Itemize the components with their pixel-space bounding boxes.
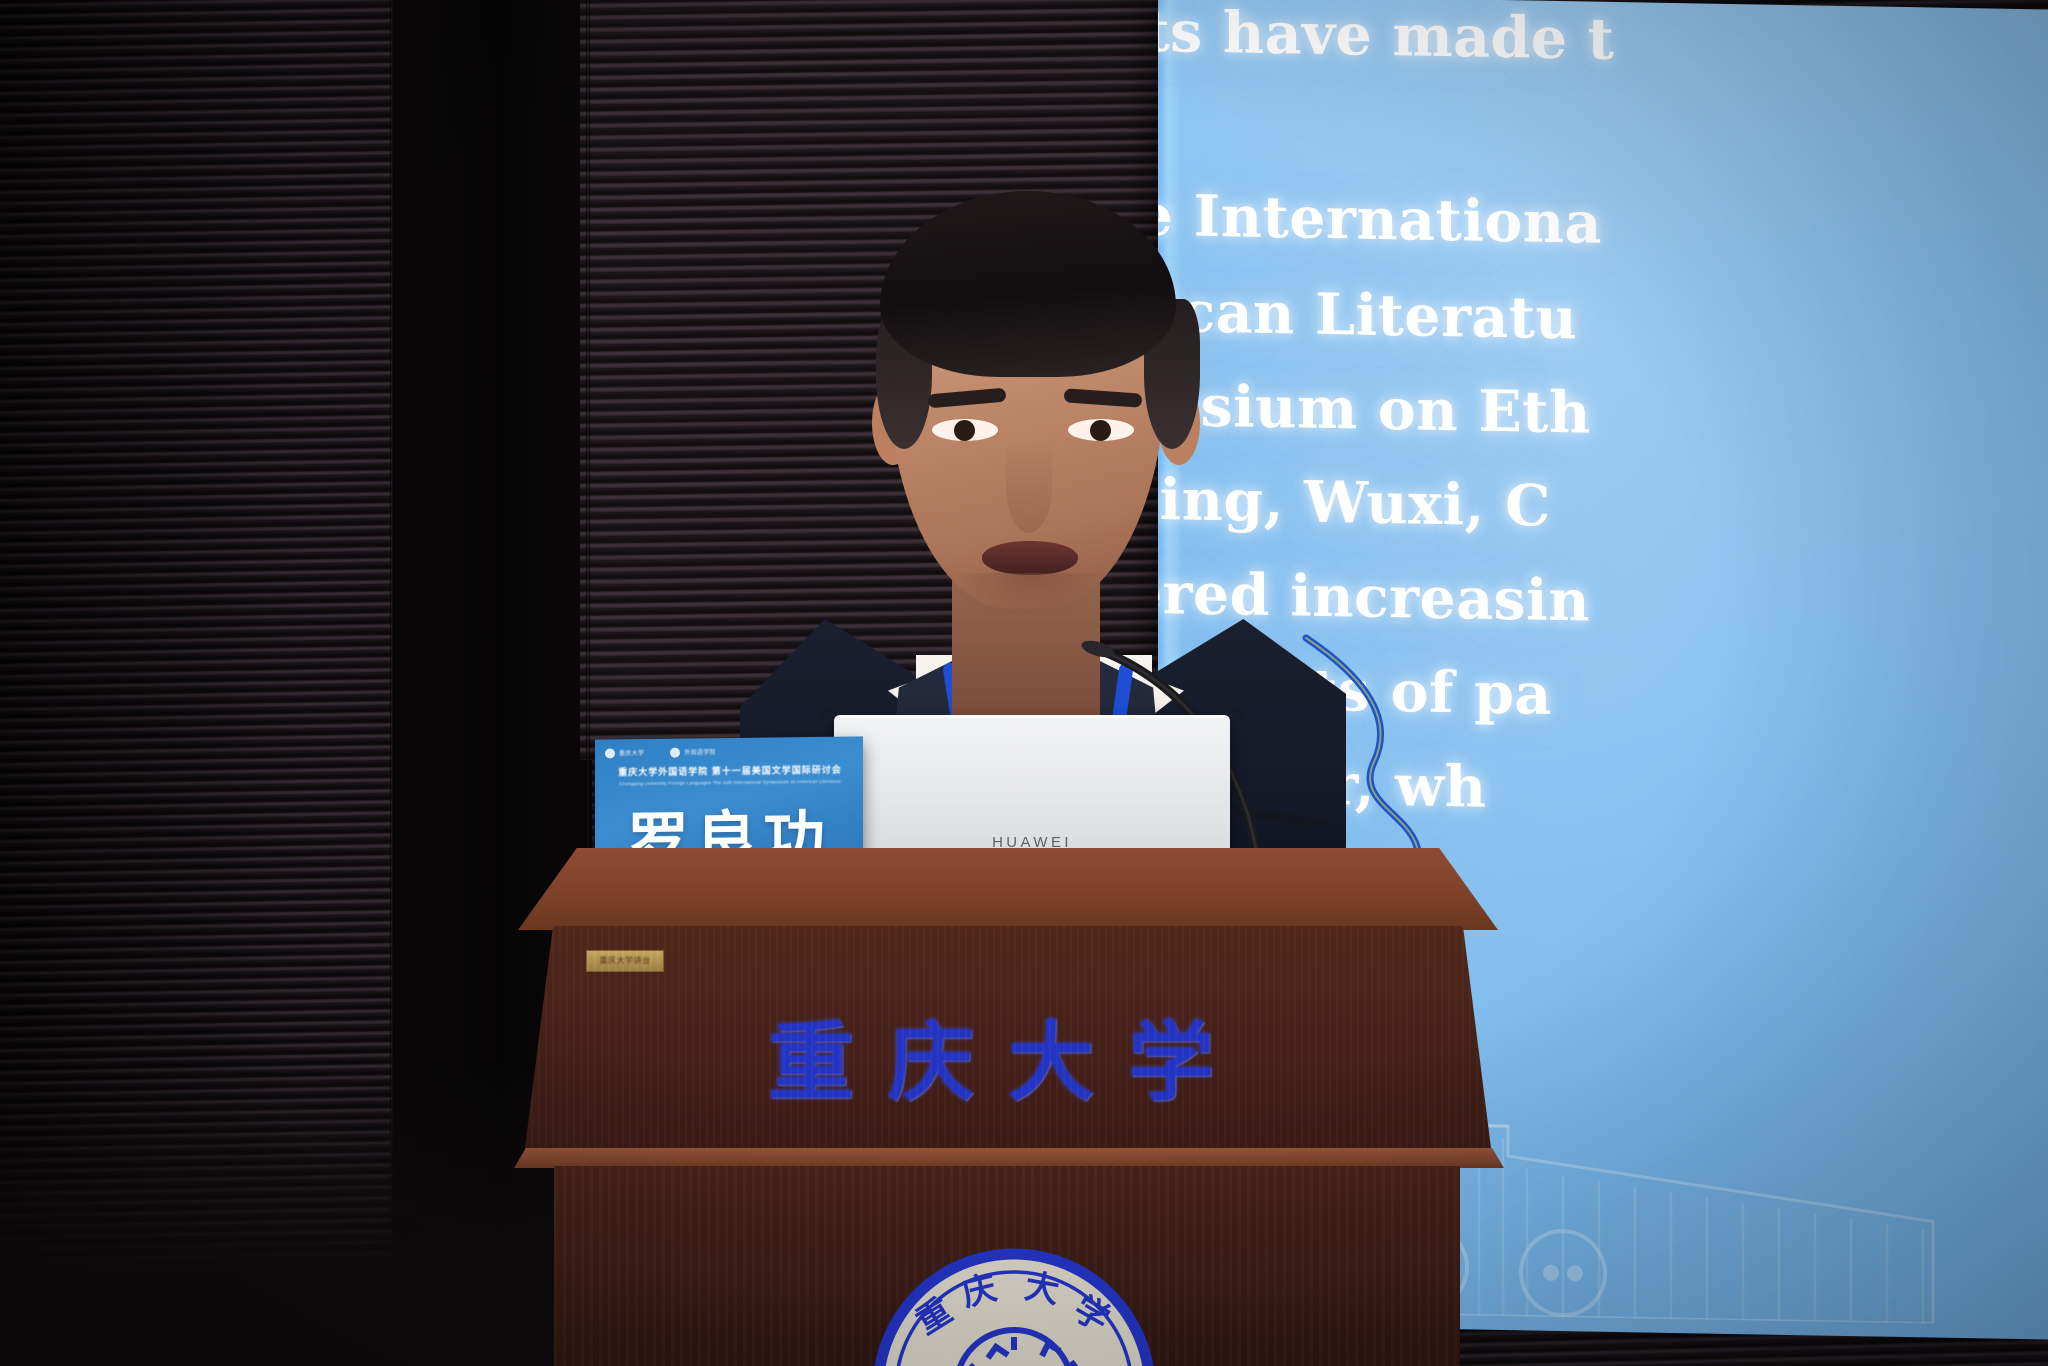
podium-university-name: 重庆大学 <box>524 992 1492 1117</box>
university-logo-icon <box>605 748 615 758</box>
photo-scene: efforts have made t The Internationa Ame… <box>0 0 2048 1366</box>
nameplate-logo-row: 重庆大学 外国语学院 <box>605 743 855 759</box>
podium-rail <box>514 1148 1504 1168</box>
svg-text:大: 大 <box>1022 1267 1062 1312</box>
podium-front-panel: 重庆大学讲台 重庆大学 <box>524 926 1492 1156</box>
podium-metal-plate: 重庆大学讲台 <box>586 950 664 972</box>
faculty-logo: 外国语学院 <box>670 747 716 758</box>
nameplate-title-cn: 重庆大学外国语学院 第十一届美国文学国际研讨会 <box>605 762 855 778</box>
faculty-logo-label: 外国语学院 <box>684 747 716 756</box>
faculty-logo-icon <box>670 747 680 757</box>
podium-plate-label: 重庆大学讲台 <box>587 951 663 971</box>
university-logo-label: 重庆大学 <box>619 748 644 757</box>
hair <box>880 191 1176 377</box>
eye-left <box>932 419 998 441</box>
mouth <box>982 541 1078 575</box>
nameplate-title-en: Chongqing University Foreign Languages T… <box>605 778 855 786</box>
slide-line-0: efforts have made t <box>1158 0 2048 94</box>
nose <box>1006 439 1052 533</box>
laptop-lid[interactable]: HUAWEI <box>834 715 1230 867</box>
podium: 重庆大学讲台 重庆大学 重 庆 大 学 <box>500 848 1510 1366</box>
nameplate-header: 重庆大学 外国语学院 重庆大学外国语学院 第十一届美国文学国际研讨会 Chong… <box>605 743 855 786</box>
podium-desktop <box>518 848 1498 930</box>
university-emblem: 重 庆 大 学 1929 <box>864 1240 1164 1366</box>
chin-shadow <box>945 573 1115 617</box>
university-logo: 重庆大学 <box>605 748 644 758</box>
eye-right <box>1068 419 1134 441</box>
